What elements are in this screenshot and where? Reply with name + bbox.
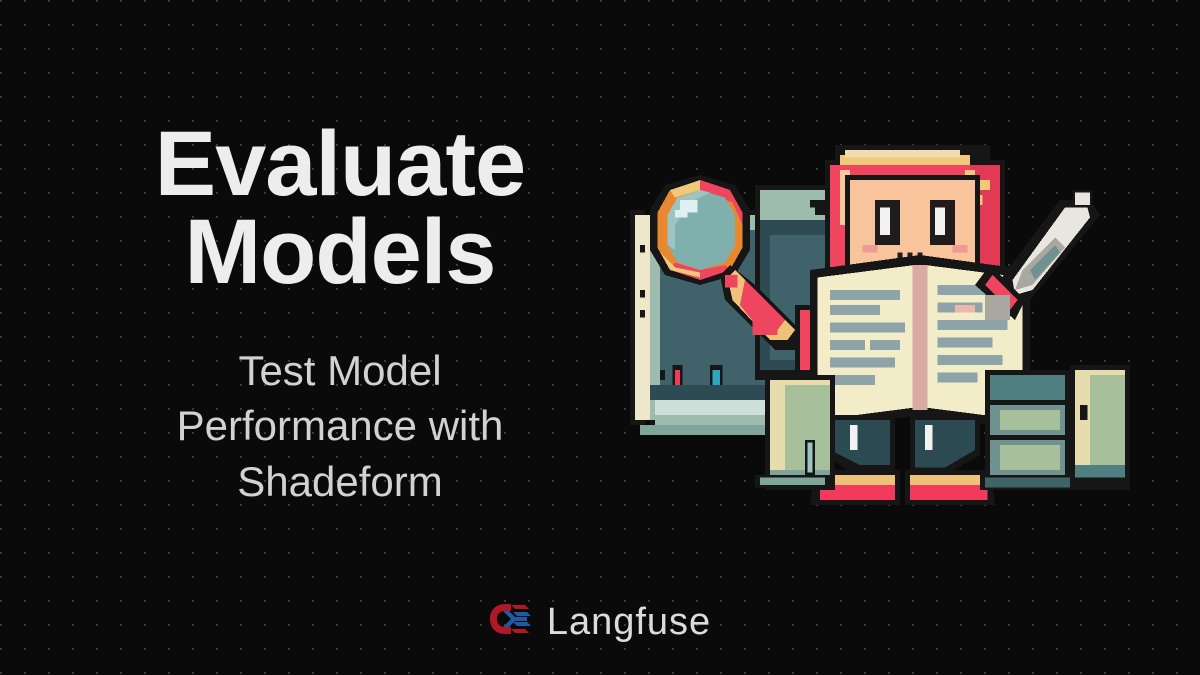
hero-text-column: Evaluate Models Test Model Performance w… bbox=[60, 120, 620, 509]
hero-illustration bbox=[615, 125, 1130, 515]
langfuse-logo-icon bbox=[489, 602, 531, 641]
page-subtitle: Test Model Performance with Shadeform bbox=[60, 343, 620, 509]
banner-canvas: Evaluate Models Test Model Performance w… bbox=[0, 0, 1200, 675]
page-title: Evaluate Models bbox=[60, 120, 620, 297]
brand-name: Langfuse bbox=[547, 603, 711, 641]
brand-footer: Langfuse bbox=[0, 602, 1200, 641]
